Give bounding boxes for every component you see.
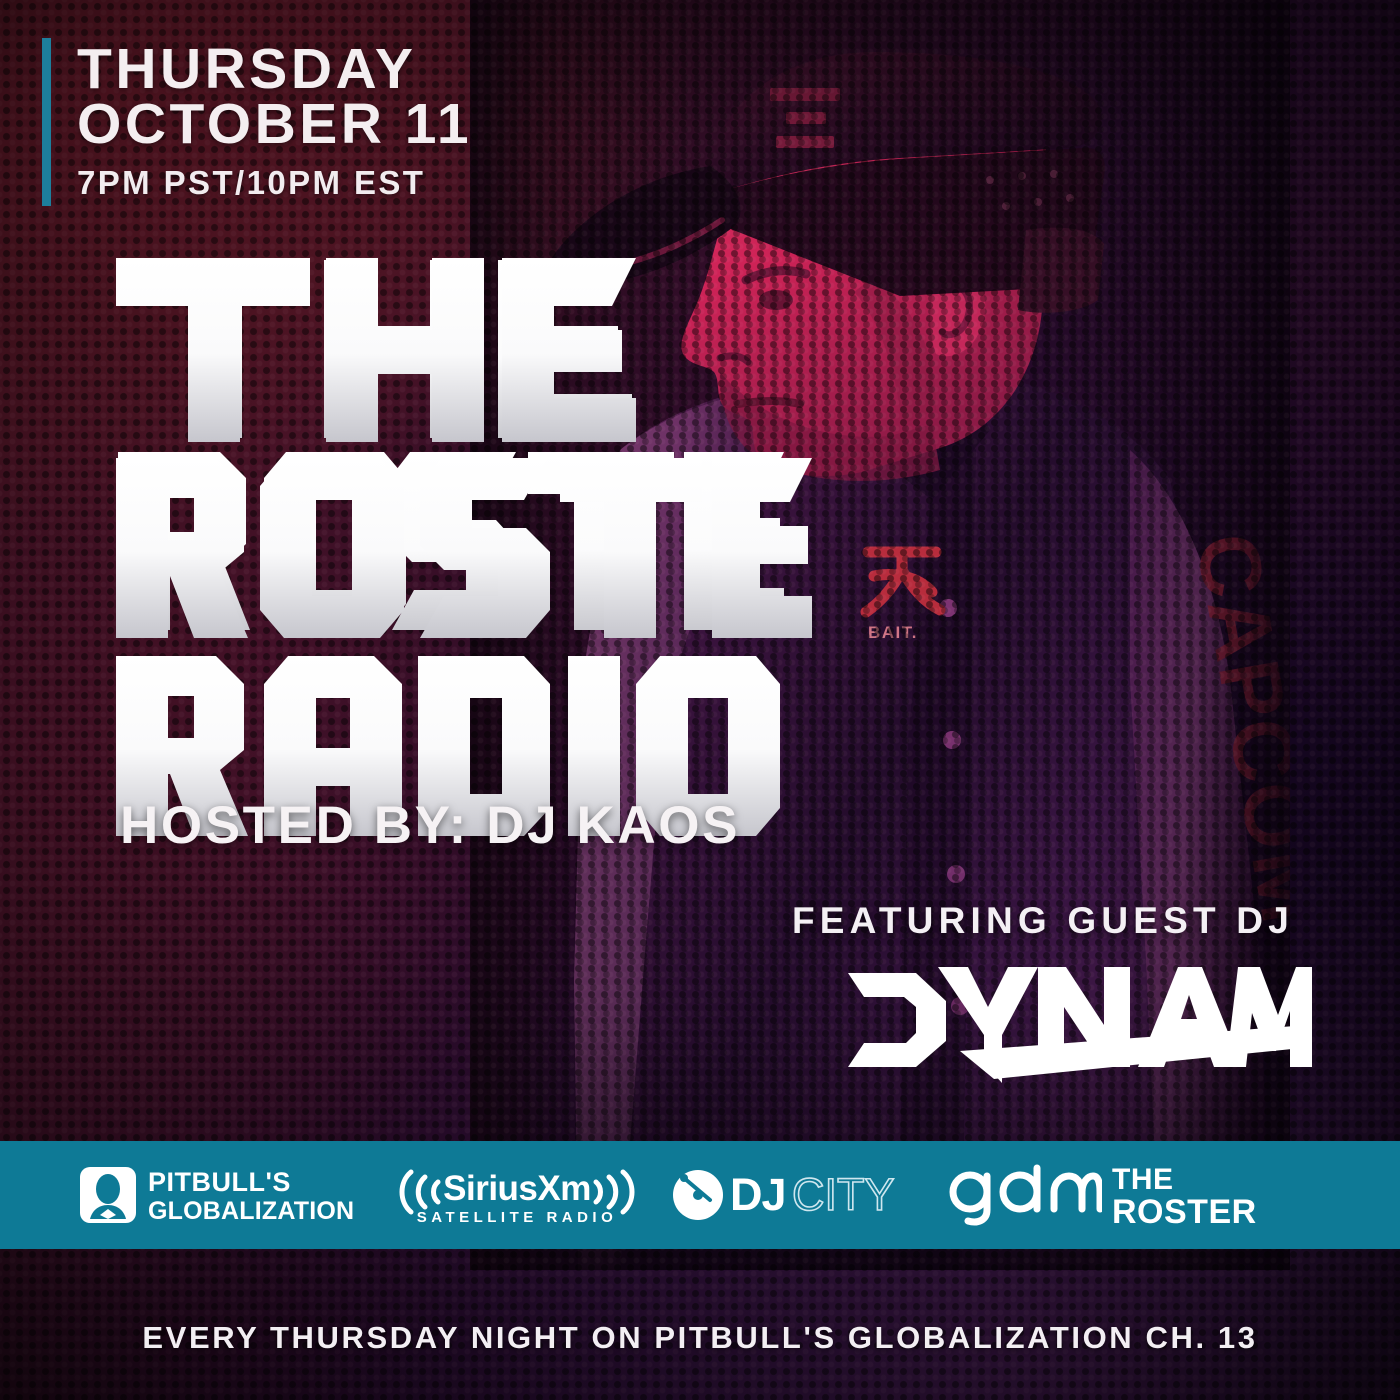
svg-text:DJ: DJ (730, 1169, 786, 1220)
svg-text:SiriusXm: SiriusXm (443, 1169, 591, 1208)
turntable-icon (673, 1170, 723, 1220)
event-date: OCTOBER 11 (77, 97, 472, 152)
featuring-label: FEATURING GUEST DJ (792, 900, 1294, 942)
pitbull-head-icon (80, 1167, 136, 1223)
event-time: 7PM PST/10PM EST (77, 164, 472, 202)
event-day: THURSDAY (77, 42, 472, 97)
gdm-wordmark-icon (953, 1168, 1100, 1222)
sponsor-the-roster[interactable]: THE ROSTER (1107, 1141, 1327, 1249)
svg-text:CITY: CITY (792, 1169, 895, 1220)
footer-note: EVERY THURSDAY NIGHT ON PITBULL'S GLOBAL… (0, 1320, 1400, 1356)
sponsor-djcity[interactable]: DJ CITY (661, 1141, 937, 1249)
sponsor-gdm[interactable] (937, 1141, 1107, 1249)
sponsor-pitbulls-globalization[interactable]: PITBULL'S GLOBALIZATION (73, 1141, 373, 1249)
show-title-block (112, 252, 812, 772)
roster-wordmark-icon: THE ROSTER (1112, 1163, 1257, 1231)
svg-text:THE: THE (1112, 1163, 1174, 1196)
promo-poster: CAPCOM BAIT. (0, 0, 1400, 1400)
svg-text:PITBULL'S: PITBULL'S (148, 1167, 291, 1197)
event-date-block: THURSDAY OCTOBER 11 7PM PST/10PM EST (42, 38, 472, 206)
teal-accent-rule (42, 38, 51, 206)
sponsor-siriusxm[interactable]: SiriusXm SATELLITE RADIO (373, 1141, 661, 1249)
host-line: HOSTED BY: DJ KAOS (120, 795, 740, 856)
guest-dj-logo (842, 955, 1312, 1090)
svg-text:GLOBALIZATION: GLOBALIZATION (148, 1197, 354, 1225)
svg-text:SATELLITE RADIO: SATELLITE RADIO (417, 1209, 618, 1226)
sponsor-bar: PITBULL'S GLOBALIZATION SiriusXm SATELLI… (0, 1141, 1400, 1249)
svg-text:ROSTER: ROSTER (1112, 1193, 1257, 1231)
